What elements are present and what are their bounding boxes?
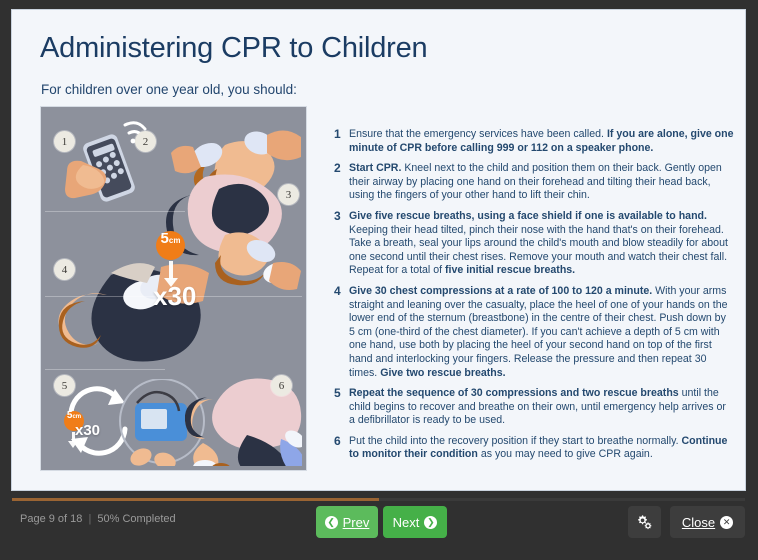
step-text: Put the child into the recovery position… bbox=[349, 435, 734, 462]
next-button[interactable]: Next ❯ bbox=[383, 506, 447, 538]
step-number: 1 bbox=[334, 128, 349, 155]
close-icon: ✕ bbox=[720, 516, 733, 529]
close-button[interactable]: Close ✕ bbox=[670, 506, 745, 538]
page-title: Administering CPR to Children bbox=[40, 32, 427, 65]
illustration-badge-1: 1 bbox=[54, 131, 75, 152]
step-item: 2 Start CPR. Kneel next to the child and… bbox=[334, 162, 734, 203]
step-text: Give five rescue breaths, using a face s… bbox=[349, 210, 734, 278]
illustration-badge-5: 5 bbox=[54, 375, 75, 396]
instruction-steps: 1 Ensure that the emergency services hav… bbox=[334, 128, 734, 469]
chevron-right-icon: ❯ bbox=[424, 516, 437, 529]
step-item: 3 Give five rescue breaths, using a face… bbox=[334, 210, 734, 278]
step-text: Ensure that the emergency services have … bbox=[349, 128, 734, 155]
chevron-left-icon: ❮ bbox=[325, 516, 338, 529]
status-separator: | bbox=[88, 513, 91, 525]
close-button-label: Close bbox=[682, 515, 715, 530]
prev-button[interactable]: ❮ Prev bbox=[316, 506, 378, 538]
settings-button[interactable] bbox=[628, 506, 661, 538]
completion-percent: 50% Completed bbox=[97, 513, 175, 525]
step-text: Start CPR. Kneel next to the child and p… bbox=[349, 162, 734, 203]
panel-divider bbox=[45, 369, 165, 370]
illustration-badge-2: 2 bbox=[135, 131, 156, 152]
progress-bar-fill bbox=[12, 498, 379, 501]
progress-bar-track[interactable] bbox=[12, 498, 745, 501]
gears-icon bbox=[636, 514, 653, 531]
step-number: 6 bbox=[334, 435, 349, 462]
step-item: 1 Ensure that the emergency services hav… bbox=[334, 128, 734, 155]
player-frame: Administering CPR to Children For childr… bbox=[0, 0, 758, 560]
next-button-label: Next bbox=[393, 515, 420, 530]
step-text: Repeat the sequence of 30 compressions a… bbox=[349, 387, 734, 428]
illustration-badge-4: 4 bbox=[54, 259, 75, 280]
depth-badge: 5cm bbox=[156, 231, 185, 260]
depth-arrow-head-small bbox=[68, 441, 78, 448]
prev-button-label: Prev bbox=[343, 515, 370, 530]
slide-card: Administering CPR to Children For childr… bbox=[12, 10, 745, 490]
step-item: 4 Give 30 chest compressions at a rate o… bbox=[334, 285, 734, 380]
panel-divider bbox=[45, 211, 185, 212]
step-number: 4 bbox=[334, 285, 349, 380]
step-item: 6 Put the child into the recovery positi… bbox=[334, 435, 734, 462]
cpr-illustration: 5cm x30 5cm x30 bbox=[41, 107, 306, 470]
step-text: Give 30 chest compressions at a rate of … bbox=[349, 285, 734, 380]
step-number: 3 bbox=[334, 210, 349, 278]
step-number: 5 bbox=[334, 387, 349, 428]
depth-arrow-shaft bbox=[169, 261, 173, 279]
page-status: Page 9 of 18 | 50% Completed bbox=[20, 513, 176, 525]
step-item: 5 Repeat the sequence of 30 compressions… bbox=[334, 387, 734, 428]
compressions-art bbox=[51, 261, 221, 371]
illustration-badge-6: 6 bbox=[271, 375, 292, 396]
step-number: 2 bbox=[334, 162, 349, 203]
illustration-inner: 5cm x30 5cm x30 bbox=[45, 111, 302, 466]
compressions-count-cycle: x30 bbox=[75, 422, 100, 439]
compressions-count-top: x30 bbox=[153, 281, 196, 312]
illustration-badge-3: 3 bbox=[278, 184, 299, 205]
page-subtitle: For children over one year old, you shou… bbox=[41, 82, 297, 97]
page-counter: Page 9 of 18 bbox=[20, 513, 82, 525]
